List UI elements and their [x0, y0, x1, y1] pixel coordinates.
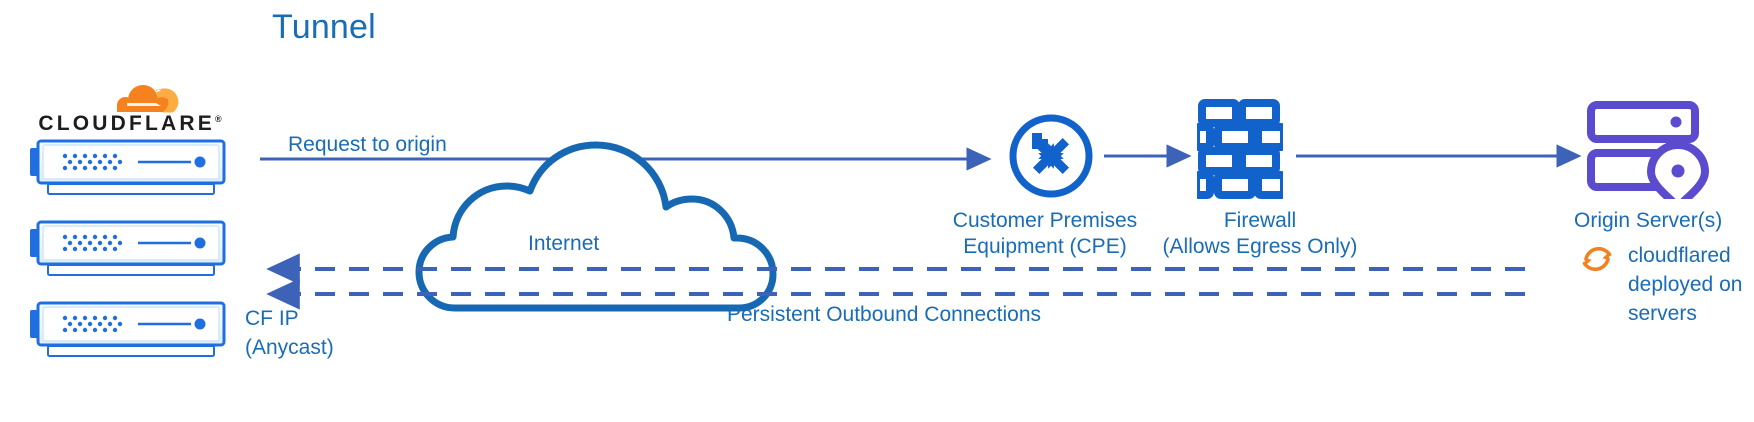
firewall-label: Firewall (Allows Egress Only): [1155, 208, 1365, 260]
request-to-origin-label: Request to origin: [288, 132, 447, 158]
server-location-icon: [1586, 99, 1710, 199]
server-rack-icon: [28, 300, 228, 362]
cf-ip-label-line1: CF IP: [245, 304, 334, 333]
origin-servers-label: Origin Server(s): [1574, 208, 1722, 234]
registered-trademark-mark: ®: [215, 114, 222, 124]
page-title: Tunnel: [272, 8, 376, 47]
router-arrows-icon: [1008, 113, 1094, 199]
cloudflare-wordmark-text: CLOUDFLARE: [38, 112, 215, 135]
sync-refresh-icon: [1578, 240, 1616, 278]
server-rack-1: [28, 138, 228, 200]
internet-label: Internet: [528, 231, 599, 257]
cpe-label: Customer Premises Equipment (CPE): [940, 208, 1150, 260]
server-rack-2: [28, 219, 228, 281]
brick-wall-icon: [1197, 98, 1283, 200]
firewall-label-line2: (Allows Egress Only): [1155, 234, 1365, 260]
server-rack-icon: [28, 219, 228, 281]
server-rack-3: [28, 300, 228, 362]
cf-ip-label-line2: (Anycast): [245, 333, 334, 362]
cloudflare-wordmark: CLOUDFLARE®: [30, 112, 230, 136]
cloudflared-note-label: cloudflared deployed on servers: [1628, 241, 1748, 328]
server-rack-icon: [28, 138, 228, 200]
cloudflare-logo: CLOUDFLARE®: [30, 72, 230, 142]
cpe-label-line1: Customer Premises: [940, 208, 1150, 234]
persistent-outbound-connections-label: Persistent Outbound Connections: [727, 302, 1041, 328]
cloud-outline-icon: [419, 145, 773, 308]
cf-ip-anycast-label: CF IP (Anycast): [245, 304, 334, 362]
firewall-label-line1: Firewall: [1155, 208, 1365, 234]
cpe-label-line2: Equipment (CPE): [940, 234, 1150, 260]
tunnel-architecture-diagram: Tunnel CLOUDFLARE®: [0, 0, 1754, 422]
